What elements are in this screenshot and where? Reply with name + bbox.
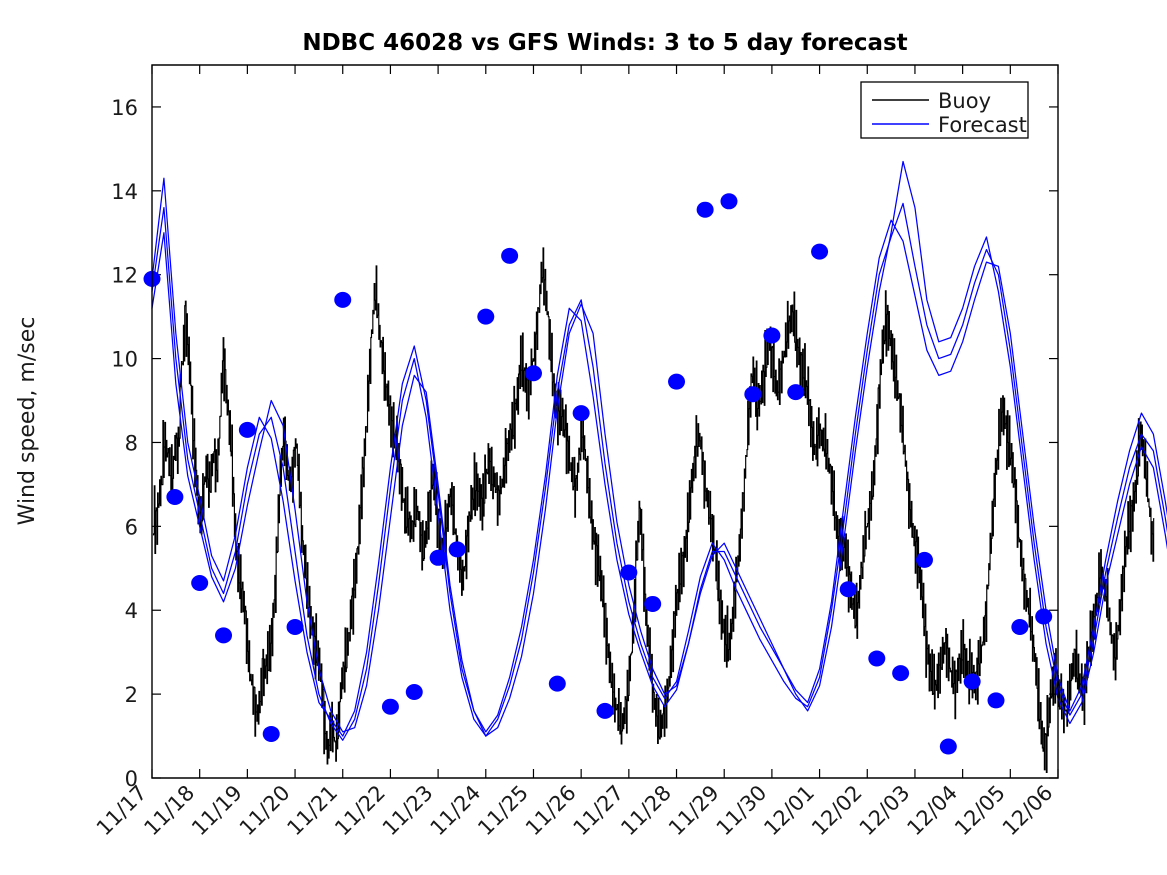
forecast-marker-dot [430,550,447,566]
y-tick-label: 6 [125,515,138,539]
y-tick-label: 16 [111,96,138,120]
forecast-marker-dot [449,541,466,557]
x-tick-label: 12/02 [807,781,867,841]
forecast-marker-dot [1035,609,1052,625]
forecast-marker-dot [964,674,981,690]
forecast-marker-dot [239,422,256,438]
forecast-marker-dot [287,619,304,635]
x-tick-label: 11/23 [378,781,438,841]
forecast-marker-dot [763,328,780,344]
forecast-marker-dot [1011,619,1028,635]
x-tick-label: 12/05 [950,781,1010,841]
forecast-marker-dot [382,699,399,715]
x-tick-label: 12/06 [998,781,1058,841]
forecast-marker-dot [988,692,1005,708]
forecast-marker-dot [597,703,614,719]
x-tick-label: 11/30 [712,781,772,841]
forecast-marker-dot [940,739,957,755]
forecast-marker-dot [334,292,351,308]
x-tick-label: 11/25 [473,781,533,841]
forecast-marker-dot [916,552,933,568]
legend-label-buoy: Buoy [938,89,991,113]
forecast-marker-dot [477,309,494,325]
forecast-marker-dot [501,248,518,264]
legend: Buoy Forecast [861,82,1028,138]
x-tick-label: 12/04 [902,781,962,841]
y-tick-label: 4 [125,599,138,623]
forecast-marker-dot [892,665,909,681]
y-tick-label: 12 [111,264,138,288]
x-tick-label: 12/01 [759,781,819,841]
forecast-marker-dot [406,684,423,700]
legend-label-forecast: Forecast [938,113,1027,137]
forecast-marker-dot [868,650,885,666]
y-tick-label: 8 [125,431,138,455]
x-tick-label: 11/17 [92,781,152,841]
forecast-marker-dot [215,627,232,643]
y-tick-label: 14 [111,180,138,204]
forecast-marker-dot [840,581,857,597]
forecast-marker-dot [525,365,542,381]
forecast-marker-dot [191,575,208,591]
y-tick-label: 2 [125,683,138,707]
forecast-marker-dot [549,676,566,692]
forecast-marker-dot [811,244,828,260]
forecast-marker-dot [668,374,685,390]
x-tick-label: 11/28 [616,781,676,841]
x-tick-label: 11/22 [330,781,390,841]
forecast-marker-dot [573,405,590,421]
chart-page: NDBC 46028 vs GFS Winds: 3 to 5 day fore… [0,0,1167,875]
x-tick-label: 11/20 [235,781,295,841]
forecast-marker-dot [787,384,804,400]
x-tick-label: 11/26 [521,781,581,841]
x-tick-label: 11/24 [426,781,486,841]
forecast-marker-dot [263,726,280,742]
y-tick-label: 10 [111,348,138,372]
plot-background [152,65,1058,778]
forecast-marker-dot [166,489,183,505]
x-tick-label: 11/29 [664,781,724,841]
x-tick-label: 11/19 [187,781,247,841]
forecast-marker-dot [697,202,714,218]
x-tick-label: 12/03 [855,781,915,841]
x-tick-label: 11/27 [569,781,629,841]
forecast-marker-dot [744,386,761,402]
chart-title: NDBC 46028 vs GFS Winds: 3 to 5 day fore… [302,30,907,56]
forecast-marker-dot [644,596,661,612]
y-axis-title: Wind speed, m/sec [15,317,40,526]
x-tick-label: 11/21 [282,781,342,841]
forecast-marker-dot [720,193,737,209]
wind-speed-chart: NDBC 46028 vs GFS Winds: 3 to 5 day fore… [0,0,1167,875]
forecast-marker-dot [620,564,637,580]
x-tick-label: 11/18 [139,781,199,841]
